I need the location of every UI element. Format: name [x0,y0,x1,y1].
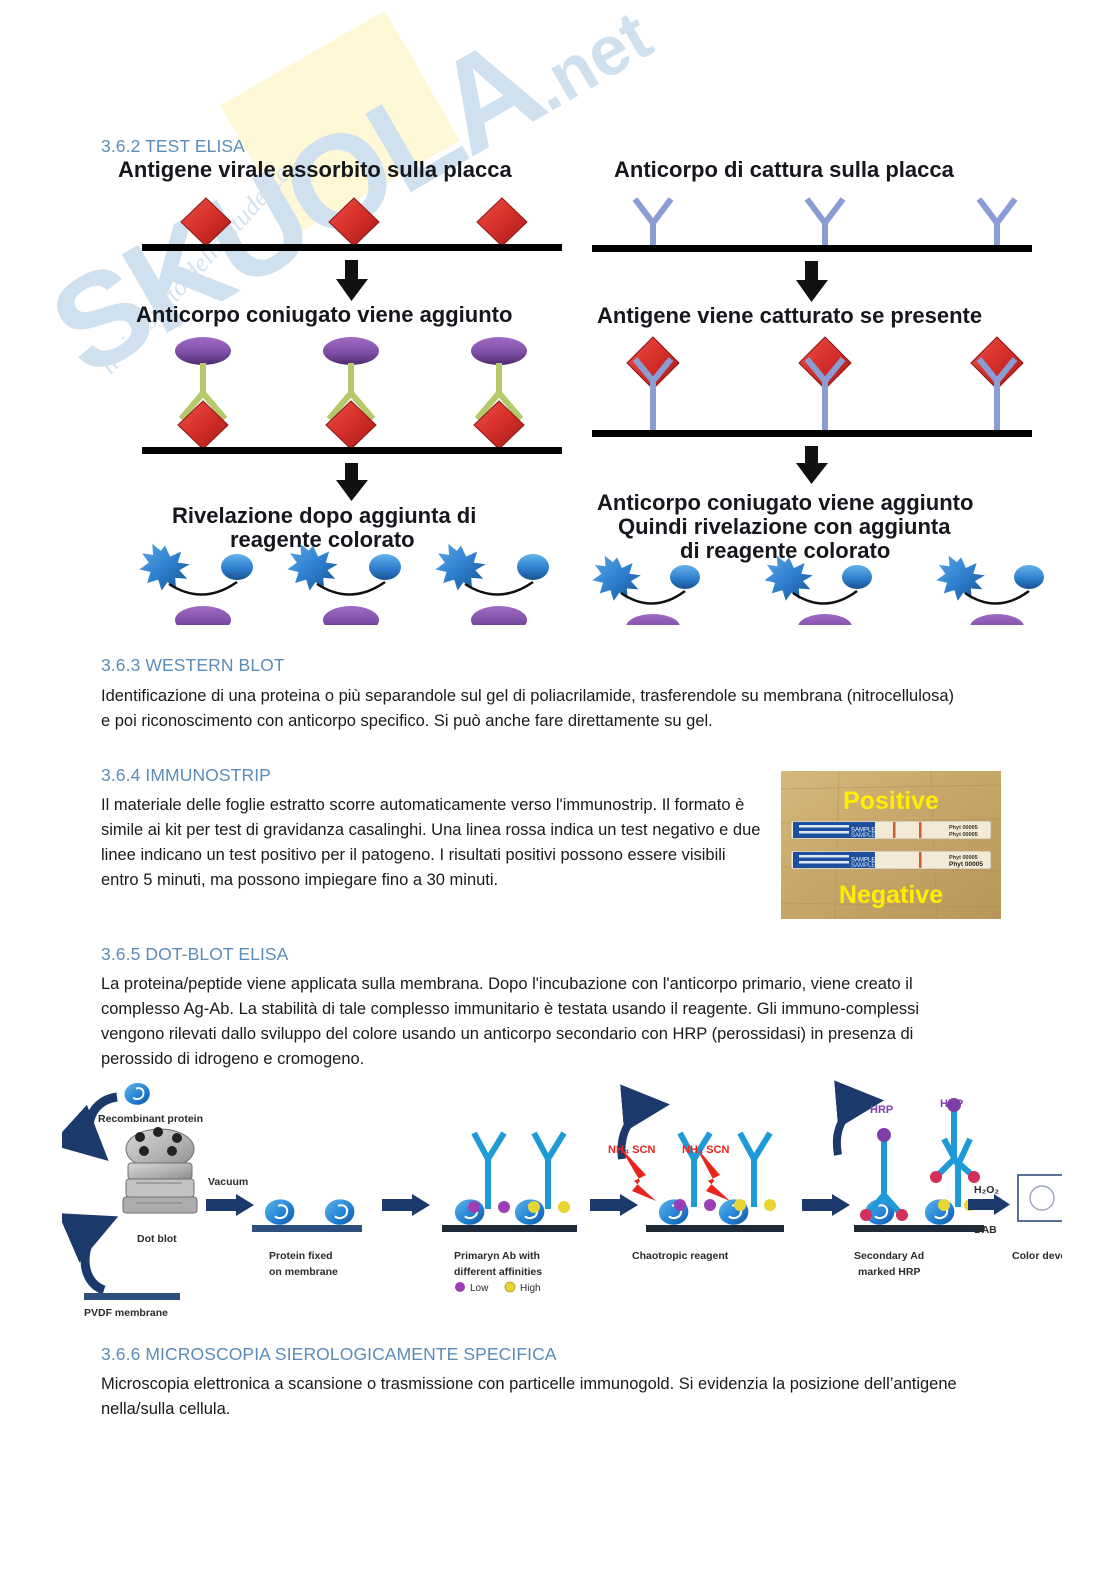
svg-text:HRP: HRP [870,1104,893,1116]
dotblot-svg: Recombinant protein Dot blot PVDF membra… [62,1075,1062,1325]
svg-text:Phyt 00005: Phyt 00005 [949,861,983,868]
svg-text:Secondary Ad: Secondary Ad [854,1250,924,1262]
paragraph-western-blot: Identificazione di una proteina o più se… [101,684,963,734]
svg-text:Low: Low [470,1283,489,1294]
svg-text:Anticorpo coniugato viene aggi: Anticorpo coniugato viene aggiunto [597,490,973,515]
svg-text:marked HRP: marked HRP [858,1266,920,1278]
svg-text:on membrane: on membrane [269,1266,338,1278]
svg-text:Color development: Color development [1012,1250,1062,1262]
positive-label: Positive [843,787,939,815]
svg-text:Phyt 00005: Phyt 00005 [949,832,978,838]
svg-text:Dot blot: Dot blot [137,1233,177,1245]
svg-text:Chaotropic reagent: Chaotropic reagent [632,1250,729,1262]
svg-text:Anticorpo di cattura sulla pla: Anticorpo di cattura sulla placca [614,157,955,182]
svg-text:NH₄ SCN: NH₄ SCN [682,1144,729,1156]
svg-text:Vacuum: Vacuum [208,1176,248,1188]
svg-text:SAMPLE: SAMPLE [851,833,875,839]
heading-3-6-2: 3.6.2 TEST ELISA [101,136,245,157]
negative-label: Negative [839,881,943,909]
svg-text:Quindi rivelazione con aggiunt: Quindi rivelazione con aggiunta [618,514,951,539]
dotblot-figure: Recombinant protein Dot blot PVDF membra… [62,1075,1062,1325]
svg-text:H₂O₂: H₂O₂ [974,1184,999,1196]
svg-text:Anticorpo coniugato viene aggi: Anticorpo coniugato viene aggiunto [136,302,512,327]
heading-3-6-4: 3.6.4 IMMUNOSTRIP [101,765,271,786]
svg-text:Antigene viene catturato se pr: Antigene viene catturato se presente [597,303,982,328]
heading-3-6-5: 3.6.5 DOT-BLOT ELISA [101,944,288,965]
svg-text:High: High [520,1283,541,1294]
svg-text:DAB: DAB [974,1224,997,1236]
svg-text:different affinities: different affinities [454,1266,542,1278]
svg-text:SAMPLE: SAMPLE [851,863,875,869]
paragraph-immunostrip: Il materiale delle foglie estratto scorr… [101,793,766,893]
immunostrip-photo: SAMPLE SAMPLE Phyt 00005 Phyt 00005 SAMP… [781,771,1001,919]
heading-3-6-3: 3.6.3 WESTERN BLOT [101,655,285,676]
svg-text:di reagente colorato: di reagente colorato [680,538,890,563]
svg-text:reagente colorato: reagente colorato [230,527,415,552]
heading-3-6-6: 3.6.6 MICROSCOPIA SIEROLOGICAMENTE SPECI… [101,1344,557,1365]
svg-text:HRP: HRP [940,1098,963,1110]
svg-text:NH₄ SCN: NH₄ SCN [608,1144,655,1156]
elisa-svg: Antigene virale assorbito sulla placca A… [100,155,1050,625]
svg-text:Phyt 00005: Phyt 00005 [949,825,978,831]
elisa-figure: Antigene virale assorbito sulla placca A… [100,155,1050,625]
watermark-brand-suffix: .net [517,0,664,126]
svg-text:PVDF membrane: PVDF membrane [84,1307,168,1319]
paragraph-microscopia: Microscopia elettronica a scansione o tr… [101,1372,973,1422]
svg-text:Primaryn Ab with: Primaryn Ab with [454,1250,540,1262]
svg-text:Antigene virale assorbito sull: Antigene virale assorbito sulla placca [118,157,512,182]
paragraph-dot-blot: La proteina/peptide viene applicata sull… [101,972,969,1072]
document-page: SKUOLA.net il riassunto dello studente 3… [0,0,1116,1579]
immunostrip-svg: SAMPLE SAMPLE Phyt 00005 Phyt 00005 SAMP… [781,771,1001,919]
svg-text:Recombinant protein: Recombinant protein [98,1113,203,1125]
svg-text:Protein fixed: Protein fixed [269,1250,333,1262]
svg-text:Rivelazione dopo aggiunta di: Rivelazione dopo aggiunta di [172,503,476,528]
